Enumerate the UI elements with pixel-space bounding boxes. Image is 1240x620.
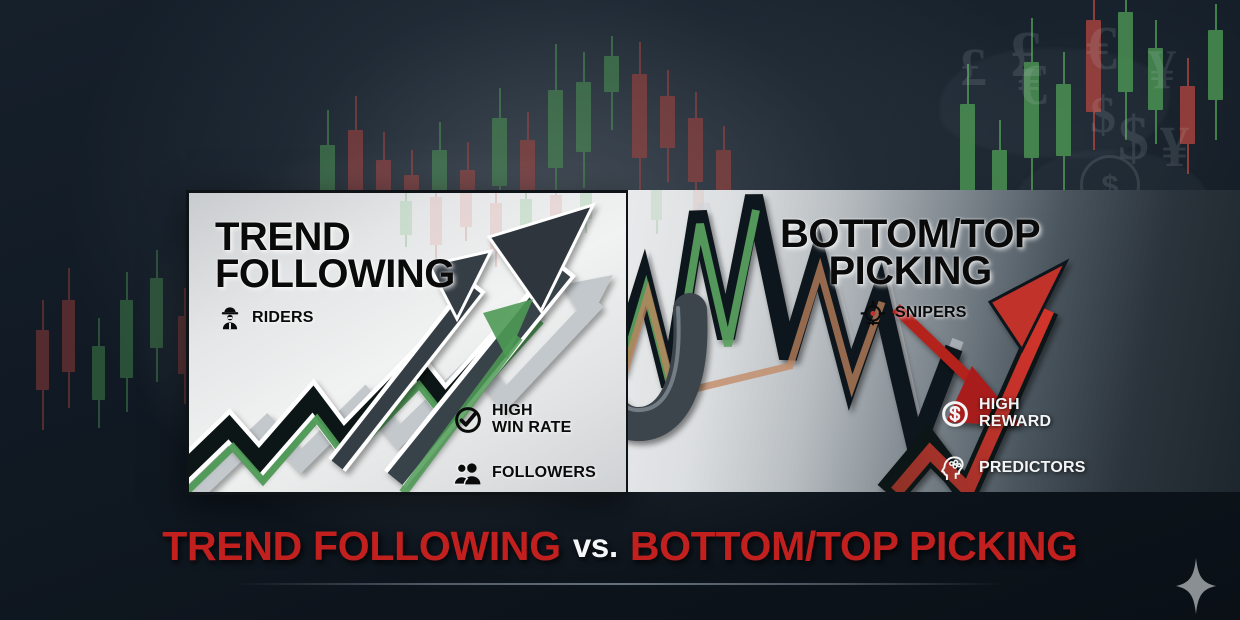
panel-title-line1: TREND xyxy=(215,219,455,256)
brain-head-icon xyxy=(940,454,970,482)
headline-part1: TREND FOLLOWING xyxy=(162,523,561,570)
sparkle-icon xyxy=(1176,558,1216,614)
panel-title-line2: FOLLOWING xyxy=(215,256,455,293)
feature-label: FOLLOWERS xyxy=(492,465,596,481)
headline-part2: BOTTOM/TOP PICKING xyxy=(630,523,1078,570)
feature-followers[interactable]: FOLLOWERS xyxy=(453,459,596,487)
currency-symbol-3: $ xyxy=(1090,90,1116,142)
feature-label: RIDERS xyxy=(252,310,314,326)
feature-label: HIGH REWARD xyxy=(979,397,1051,431)
feature-label: PREDICTORS xyxy=(979,460,1086,476)
feature-high-reward[interactable]: HIGH REWARD xyxy=(940,397,1051,431)
panel-trend-following[interactable]: TREND FOLLOWING RIDERS HIGH WIN R xyxy=(186,190,629,495)
feature-label-line2: REWARD xyxy=(979,413,1051,430)
panel-title-trend-following: TREND FOLLOWING xyxy=(215,219,455,293)
currency-symbol-6: £ xyxy=(960,40,987,94)
divider-line xyxy=(235,583,1005,585)
currency-symbol-1: € xyxy=(1086,18,1117,80)
two-people-icon xyxy=(453,459,483,487)
currency-symbol-5: € xyxy=(1018,56,1047,114)
panel-title-bottom-top-picking: BOTTOM/TOP PICKING xyxy=(780,216,1040,290)
poster-canvas: £€¥$$€£¥$ xyxy=(0,0,1240,620)
feature-snipers[interactable]: SNIPERS xyxy=(860,300,967,326)
panel-bottom-top-picking[interactable]: BOTTOM/TOP PICKING SNIPERS HIGH REWARD xyxy=(628,190,1240,492)
feature-label: SNIPERS xyxy=(895,305,967,321)
currency-symbol-7: ¥ xyxy=(1160,118,1189,176)
worker-helmet-icon xyxy=(217,305,243,331)
feature-label-line1: HIGH xyxy=(979,396,1020,413)
feature-predictors[interactable]: PREDICTORS xyxy=(940,454,1086,482)
check-circle-icon xyxy=(453,405,483,435)
panel-title-line2: PICKING xyxy=(780,253,1040,290)
currency-symbol-2: ¥ xyxy=(1148,42,1176,98)
headline-connector: vs. xyxy=(573,527,618,565)
headline: TREND FOLLOWING vs. BOTTOM/TOP PICKING xyxy=(0,518,1240,574)
feature-high-win-rate[interactable]: HIGH WIN RATE xyxy=(453,403,572,437)
feature-label-line1: HIGH xyxy=(492,402,533,419)
crosshair-scope-icon xyxy=(860,300,886,326)
dollar-circle-icon xyxy=(940,399,970,429)
feature-riders[interactable]: RIDERS xyxy=(217,305,314,331)
panel-title-line1: BOTTOM/TOP xyxy=(780,216,1040,253)
feature-label-line2: WIN RATE xyxy=(492,419,572,436)
feature-label: HIGH WIN RATE xyxy=(492,403,572,437)
